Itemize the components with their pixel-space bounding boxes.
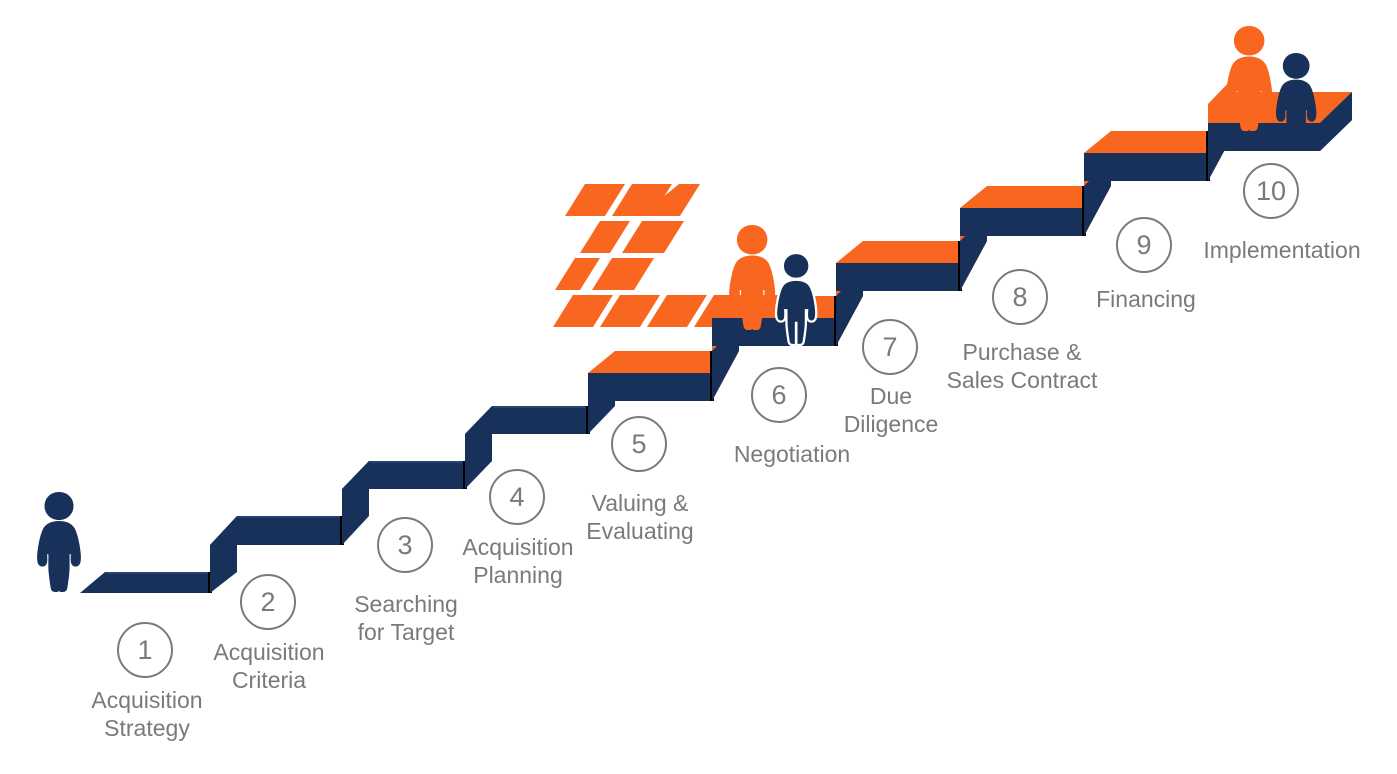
step-label-1: Acquisition Strategy bbox=[56, 686, 238, 742]
step-label-10: Implementation bbox=[1186, 236, 1378, 264]
stair-step-7 bbox=[836, 186, 987, 291]
step-label-9: Financing bbox=[1055, 285, 1237, 313]
step-number-2[interactable]: 2 bbox=[240, 574, 296, 630]
step-number-7[interactable]: 7 bbox=[862, 319, 918, 375]
step-number-4[interactable]: 4 bbox=[489, 469, 545, 525]
step-number-8[interactable]: 8 bbox=[992, 269, 1048, 325]
infographic-canvas: 1 Acquisition Strategy 2 Acquisition Cri… bbox=[0, 0, 1397, 774]
stair-step-3 bbox=[342, 406, 492, 489]
step-label-5: Valuing & Evaluating bbox=[549, 489, 731, 545]
step-label-6: Negotiation bbox=[692, 440, 892, 468]
stair-step-1 bbox=[80, 516, 237, 593]
step-label-8: Purchase & Sales Contract bbox=[931, 338, 1113, 394]
step-label-3: Searching for Target bbox=[315, 590, 497, 646]
stair-step-8 bbox=[960, 131, 1111, 236]
figure-step-1-navy bbox=[37, 492, 81, 592]
stair-step-2 bbox=[210, 461, 369, 545]
step-number-3[interactable]: 3 bbox=[377, 517, 433, 573]
step-number-1[interactable]: 1 bbox=[117, 622, 173, 678]
step-number-5[interactable]: 5 bbox=[611, 416, 667, 472]
step-number-9[interactable]: 9 bbox=[1116, 217, 1172, 273]
step-number-6[interactable]: 6 bbox=[751, 367, 807, 423]
step-label-2: Acquisition Criteria bbox=[178, 638, 360, 694]
step-number-10[interactable]: 10 bbox=[1243, 163, 1299, 219]
